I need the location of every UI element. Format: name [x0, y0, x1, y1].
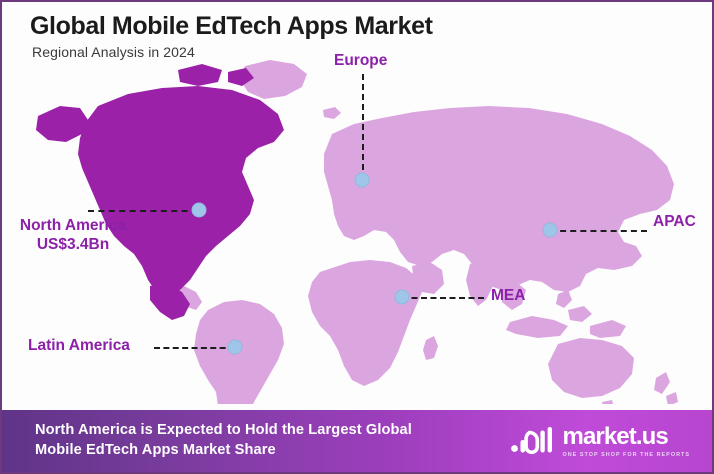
logo-wordmark: market.us	[563, 425, 691, 449]
region-label-north-america: North America US$3.4Bn	[12, 217, 134, 255]
market-us-logo-text: market.us ONE STOP SHOP FOR THE REPORTS	[563, 425, 691, 458]
map-marker-europe[interactable]	[355, 173, 370, 188]
footer-banner: North America is Expected to Hold the La…	[2, 410, 712, 472]
infographic-container: Global Mobile EdTech Apps Market Regiona…	[0, 0, 714, 474]
region-value-north-america: US$3.4Bn	[12, 236, 134, 255]
leader-line-latin-america	[154, 347, 235, 349]
region-label-europe: Europe	[334, 52, 387, 71]
region-label-latin-america: Latin America	[28, 337, 130, 356]
map-marker-north-america[interactable]	[192, 203, 207, 218]
region-label-apac: APAC	[653, 213, 696, 232]
page-title: Global Mobile EdTech Apps Market	[30, 12, 433, 41]
banner-headline-line1: North America is Expected to Hold the La…	[35, 422, 412, 438]
banner-headline-line2: Mobile EdTech Apps Market Share	[35, 441, 412, 461]
leader-line-mea	[402, 297, 484, 299]
leader-line-europe	[362, 74, 364, 180]
map-marker-mea[interactable]	[395, 290, 410, 305]
banner-headline: North America is Expected to Hold the La…	[35, 421, 412, 460]
market-us-logo[interactable]: market.us ONE STOP SHOP FOR THE REPORTS	[510, 424, 691, 458]
leader-line-north-america	[88, 210, 198, 212]
map-highlight-north-america	[36, 64, 284, 320]
region-name-north-america: North America	[20, 217, 126, 234]
region-label-mea: MEA	[491, 287, 525, 306]
market-us-logo-icon	[510, 424, 556, 458]
map-marker-apac[interactable]	[543, 223, 558, 238]
logo-tagline: ONE STOP SHOP FOR THE REPORTS	[563, 452, 691, 458]
map-marker-latin-america[interactable]	[228, 340, 243, 355]
leader-line-apac	[550, 230, 647, 232]
